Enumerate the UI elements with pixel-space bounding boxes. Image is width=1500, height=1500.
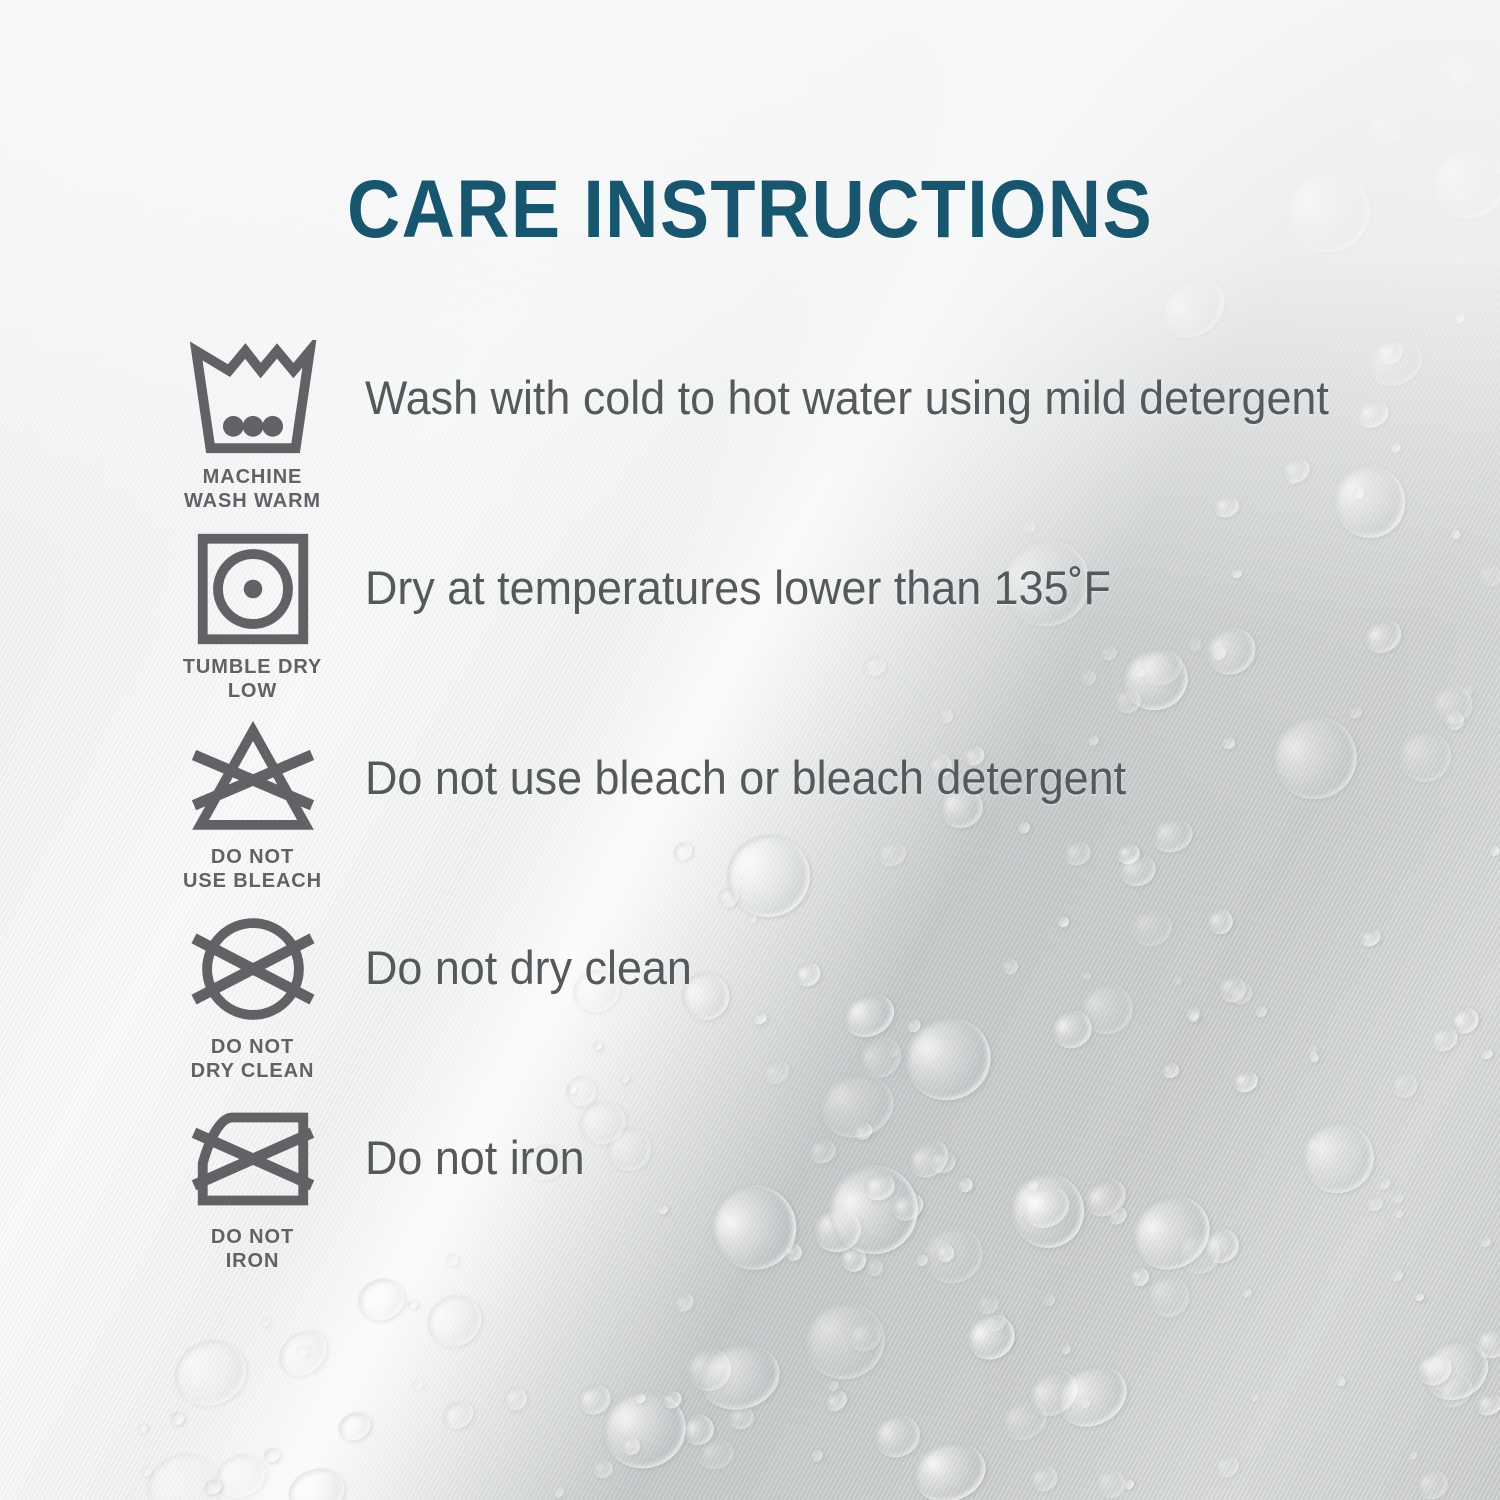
do-not-iron-icon: [187, 1100, 319, 1218]
care-icon-caption: MACHINE WASH WARM: [184, 466, 321, 513]
do-not-dry-clean-icon: [187, 910, 319, 1028]
care-row: TUMBLE DRY LOW Dry at temperatures lower…: [0, 530, 1500, 720]
care-icon-cell: DO NOT DRY CLEAN: [165, 910, 340, 1083]
care-description: Do not use bleach or bleach detergent: [365, 752, 1449, 804]
care-icon-cell: TUMBLE DRY LOW: [165, 530, 340, 703]
tumble-dry-low-icon: [187, 530, 319, 648]
care-icon-cell: MACHINE WASH WARM: [165, 340, 340, 513]
care-description-cell: Wash with cold to hot water using mild d…: [340, 340, 1500, 424]
machine-wash-warm-icon: [187, 340, 319, 458]
care-icon-caption: DO NOT USE BLEACH: [183, 846, 322, 893]
care-icon-caption: TUMBLE DRY LOW: [183, 656, 322, 703]
care-instruction-list: MACHINE WASH WARM Wash with cold to hot …: [0, 340, 1500, 1290]
care-icon-caption: DO NOT IRON: [211, 1226, 294, 1273]
care-row: DO NOT DRY CLEAN Do not dry clean: [0, 910, 1500, 1100]
care-row: DO NOT IRON Do not iron: [0, 1100, 1500, 1290]
care-description-cell: Do not dry clean: [340, 910, 1500, 994]
care-description-cell: Do not use bleach or bleach detergent: [340, 720, 1500, 804]
care-description: Do not dry clean: [365, 942, 1449, 994]
care-description: Dry at temperatures lower than 135˚F: [365, 562, 1449, 614]
care-icon-cell: DO NOT IRON: [165, 1100, 340, 1273]
page-title: CARE INSTRUCTIONS: [75, 163, 1425, 257]
care-icon-cell: DO NOT USE BLEACH: [165, 720, 340, 893]
do-not-use-bleach-icon: [187, 720, 319, 838]
care-row: MACHINE WASH WARM Wash with cold to hot …: [0, 340, 1500, 530]
care-instructions-card: CARE INSTRUCTIONS MACHINE WASH WARM Wash…: [0, 0, 1500, 1500]
care-row: DO NOT USE BLEACH Do not use bleach or b…: [0, 720, 1500, 910]
care-description: Wash with cold to hot water using mild d…: [365, 372, 1449, 424]
care-description-cell: Do not iron: [340, 1100, 1500, 1184]
care-icon-caption: DO NOT DRY CLEAN: [191, 1036, 315, 1083]
care-description-cell: Dry at temperatures lower than 135˚F: [340, 530, 1500, 614]
care-description: Do not iron: [365, 1132, 1449, 1184]
